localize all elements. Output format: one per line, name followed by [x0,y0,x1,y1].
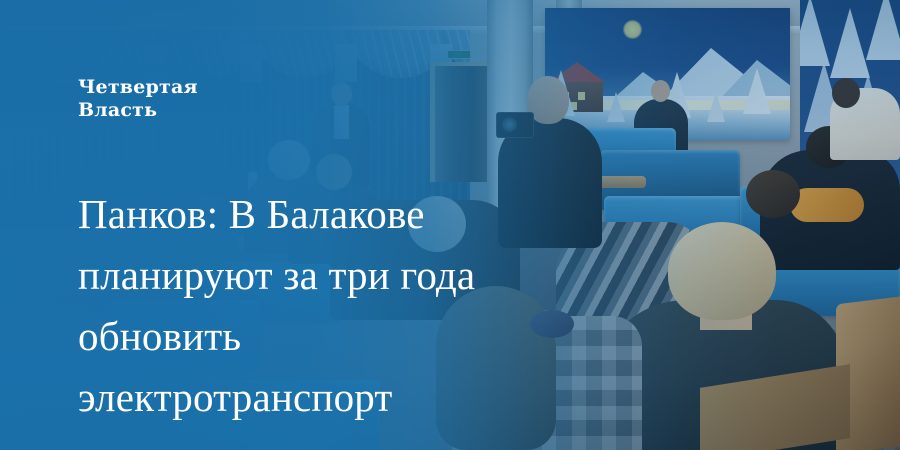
site-logo[interactable]: Четвертая Власть [78,76,338,122]
article-preview-card: Четвертая Власть Панков: В Балакове план… [0,0,900,450]
headline-line: обновить [78,306,638,367]
headline-line: электротранспорт [78,367,638,428]
site-logo-line-1: Четвертая [78,76,338,99]
headline-line: Панков: В Балакове [78,184,638,245]
card-content: Четвертая Власть Панков: В Балакове план… [0,0,900,450]
headline-line: планируют за три года [78,245,638,306]
article-headline[interactable]: Панков: В Балакове планируют за три года… [78,184,638,428]
site-logo-line-2: Власть [78,99,338,122]
